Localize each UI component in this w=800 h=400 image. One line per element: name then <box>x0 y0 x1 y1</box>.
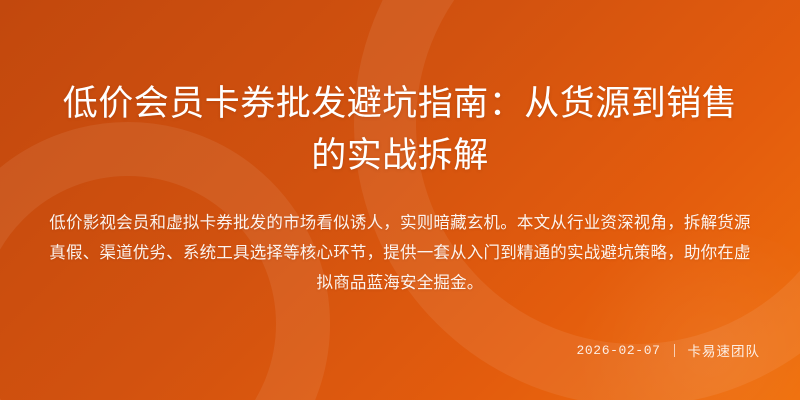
article-summary: 低价影视会员和虚拟卡券批发的市场看似诱人，实则暗藏玄机。本文从行业资深视角，拆解… <box>44 182 756 298</box>
page-title: 低价会员卡券批发避坑指南：从货源到销售的实战拆解 <box>50 0 750 182</box>
cover-content: 低价会员卡券批发避坑指南：从货源到销售的实战拆解 低价影视会员和虚拟卡券批发的市… <box>0 0 800 400</box>
article-cover-card: 低价会员卡券批发避坑指南：从货源到销售的实战拆解 低价影视会员和虚拟卡券批发的市… <box>0 0 800 400</box>
